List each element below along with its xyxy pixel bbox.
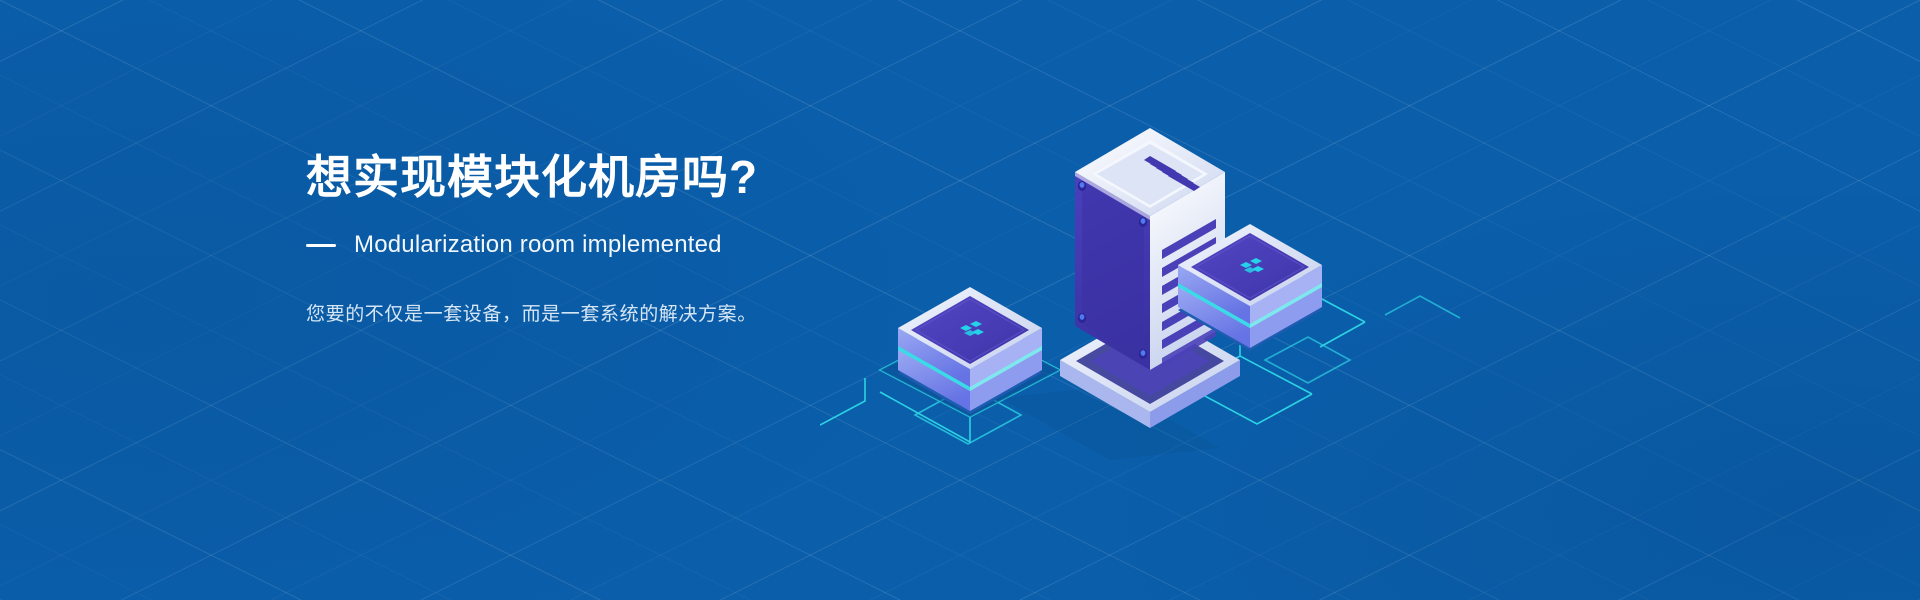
body-text: 您要的不仅是一套设备，而是一套系统的解决方案。 (306, 301, 946, 329)
subtitle: Modularization room implemented (354, 230, 722, 260)
accent-rule-icon (306, 244, 336, 247)
hero-banner: 想实现模块化机房吗? Modularization room implement… (0, 0, 1920, 600)
subtitle-row: Modularization room implemented (306, 230, 946, 260)
page-title: 想实现模块化机房吗? (306, 148, 946, 206)
hero-copy: 想实现模块化机房吗? Modularization room implement… (306, 148, 946, 348)
